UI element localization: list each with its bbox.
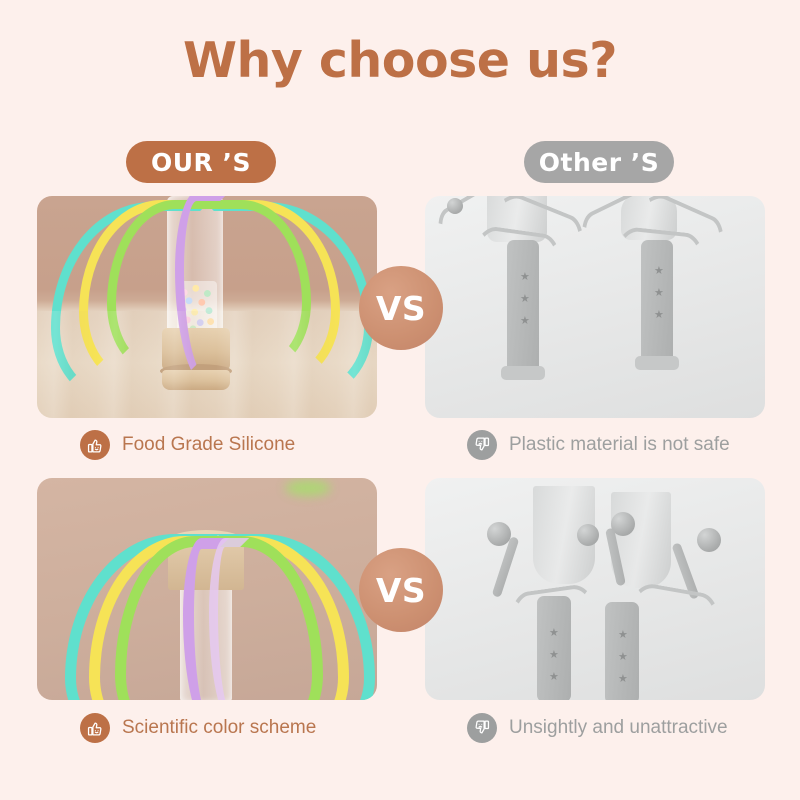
- infographic-page: Why choose us? OUR ’S Other ’S: [0, 0, 800, 800]
- thumbs-down-icon: [467, 430, 497, 460]
- others-photo-card-2: ★ ★ ★ ★ ★ ★: [425, 478, 765, 700]
- ours-photo-card-1: [37, 196, 377, 418]
- header-badge-ours: OUR ’S: [126, 141, 276, 183]
- gray-ball-left: [447, 198, 463, 214]
- star-icon: ★: [618, 674, 628, 685]
- wooden-base-lower: [162, 370, 230, 390]
- thumbs-down-icon: [467, 713, 497, 743]
- gray-handle-right: [641, 240, 673, 370]
- gray-handle-left-foot: [501, 366, 545, 380]
- ours-product-photo-2: [37, 478, 377, 700]
- vs-badge-row-1-label: VS: [376, 289, 426, 328]
- star-icon: ★: [654, 310, 664, 321]
- caption-ours-1-text: Food Grade Silicone: [122, 434, 295, 456]
- thumbs-up-icon: [80, 713, 110, 743]
- page-title: Why choose us?: [0, 33, 800, 89]
- gray-ball-far-left: [487, 522, 511, 546]
- vs-badge-row-2: VS: [359, 548, 443, 632]
- header-badge-others: Other ’S: [524, 141, 674, 183]
- star-icon: ★: [520, 294, 530, 305]
- caption-others-1-text: Plastic material is not safe: [509, 434, 730, 456]
- caption-others-2-text: Unsightly and unattractive: [509, 717, 728, 739]
- wooden-base-ring: [160, 364, 232, 378]
- strand-purple-center: [175, 196, 229, 386]
- background-blur-accent: [285, 480, 331, 496]
- header-badge-ours-label: OUR ’S: [151, 148, 251, 177]
- gray-ball-far-right: [697, 528, 721, 552]
- caption-others-2: Unsightly and unattractive: [467, 711, 728, 745]
- others-photo-card-1: ★ ★ ★ ★ ★ ★: [425, 196, 765, 418]
- gray-ball-mid-left: [577, 524, 599, 546]
- caption-ours-1: Food Grade Silicone: [80, 428, 295, 462]
- ours-product-photo-1: [37, 196, 377, 418]
- star-icon: ★: [654, 266, 664, 277]
- star-icon: ★: [520, 316, 530, 327]
- gray-wire-left: [507, 582, 604, 662]
- star-icon: ★: [654, 288, 664, 299]
- header-badge-others-label: Other ’S: [539, 148, 660, 177]
- strand-lavender-center: [209, 538, 249, 700]
- thumbs-up-icon: [80, 430, 110, 460]
- others-product-photo-2: ★ ★ ★ ★ ★ ★: [425, 478, 765, 700]
- others-product-photo-1: ★ ★ ★ ★ ★ ★: [425, 196, 765, 418]
- gray-handle-left: [507, 240, 539, 380]
- ours-photo-card-2: [37, 478, 377, 700]
- caption-ours-2: Scientific color scheme: [80, 711, 316, 745]
- star-icon: ★: [520, 272, 530, 283]
- caption-ours-2-text: Scientific color scheme: [122, 717, 316, 739]
- vs-badge-row-2-label: VS: [376, 571, 426, 610]
- star-icon: ★: [618, 652, 628, 663]
- star-icon: ★: [549, 672, 559, 683]
- wooden-base-upper: [162, 328, 230, 370]
- gray-handle-right-foot: [635, 356, 679, 370]
- vs-badge-row-1: VS: [359, 266, 443, 350]
- caption-others-1: Plastic material is not safe: [467, 428, 730, 462]
